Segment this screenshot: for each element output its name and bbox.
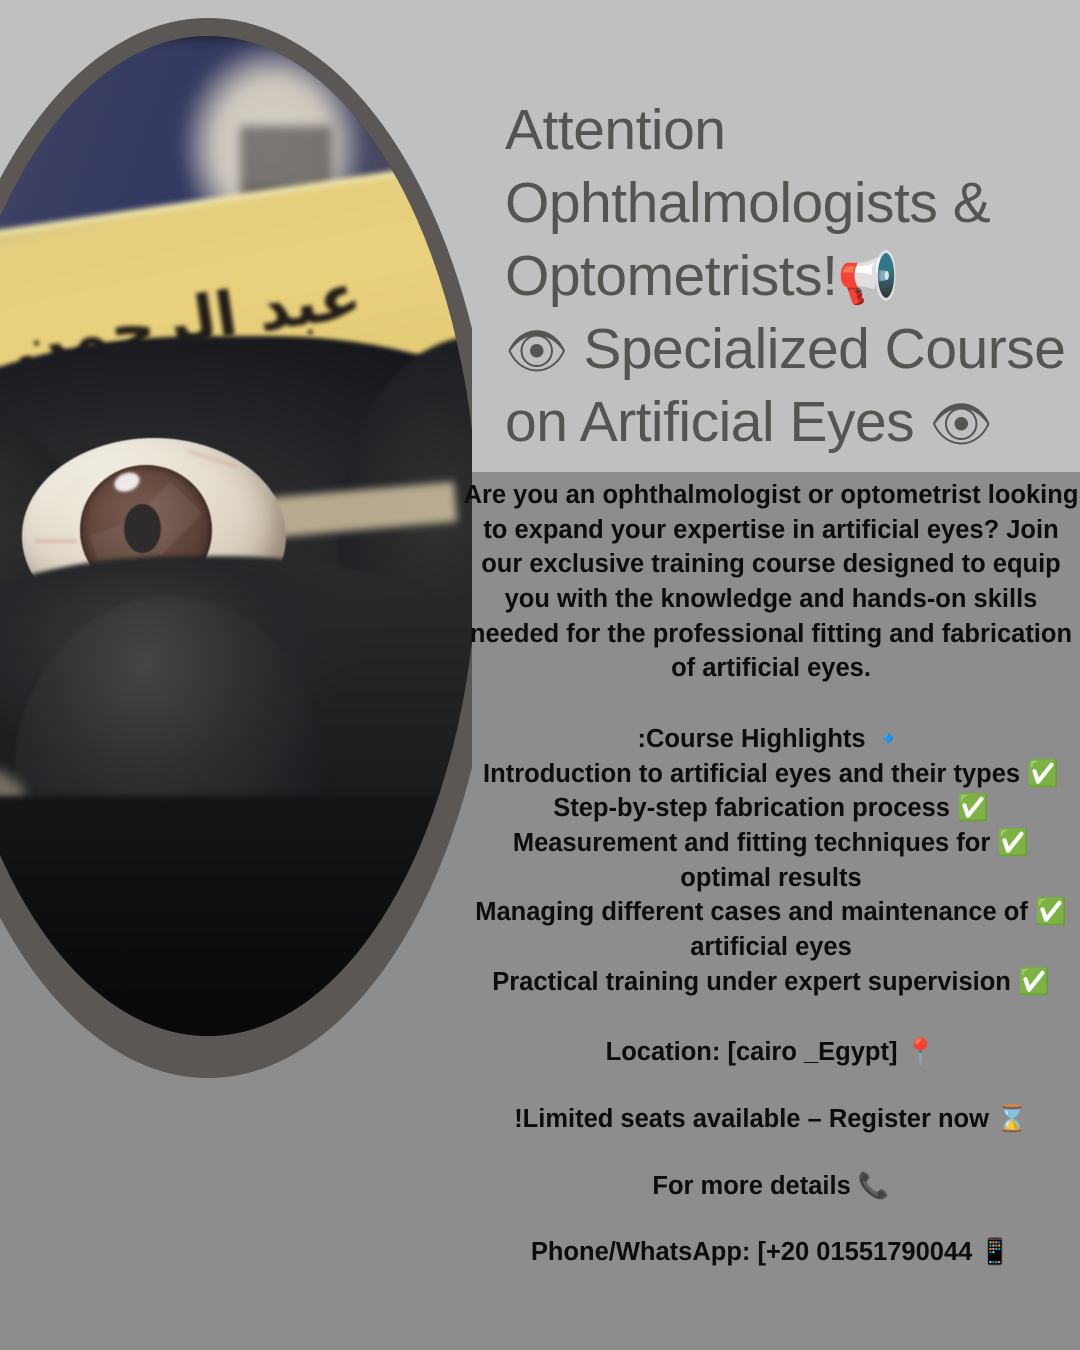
highlight-item-2-text: Step-by-step fabrication process xyxy=(553,794,950,822)
highlight-item-1-text: Introduction to artificial eyes and thei… xyxy=(483,760,1020,788)
highlight-item-3: Measurement and fitting techniques for ✅ xyxy=(462,826,1080,861)
eye-specular-glint xyxy=(112,469,143,495)
intro-paragraph: Are you an ophthalmologist or optometris… xyxy=(462,478,1080,686)
poster-heading: Attention Ophthalmologists & Optometrist… xyxy=(505,94,1075,459)
highlight-item-3-text: Measurement and fitting techniques for xyxy=(513,829,990,857)
check-icon-2: ✅ xyxy=(957,793,989,823)
highlight-item-1: Introduction to artificial eyes and thei… xyxy=(462,757,1080,792)
photo-oval-mask: عبد الرحمن ال بات والعيون xyxy=(0,36,472,1036)
more-details-text: For more details xyxy=(652,1172,850,1200)
spacer-1 xyxy=(462,686,1080,722)
poster-root: عبد الرحمن ال بات والعيون xyxy=(0,0,1080,1350)
heading-line-4-text: Specialized Course xyxy=(583,317,1065,381)
telephone-receiver-icon: 📞 xyxy=(858,1171,890,1201)
eye-icon-right: 👁 xyxy=(930,395,993,453)
heading-line-3: Optometrists!📢 xyxy=(505,240,1075,313)
location-text: Location: [cairo _Egypt] xyxy=(606,1038,898,1066)
check-icon-3: ✅ xyxy=(997,828,1029,858)
course-photo: عبد الرحمن ال بات والعيون xyxy=(0,0,472,1090)
spacer-3 xyxy=(462,1070,1080,1102)
highlights-title: :Course Highlights 🔹 xyxy=(462,722,1080,757)
spacer-4 xyxy=(462,1137,1080,1169)
eye-pupil xyxy=(124,504,161,553)
eye-icon-left: 👁 xyxy=(505,322,568,380)
heading-line-5: on Artificial Eyes 👁 xyxy=(505,386,1075,459)
more-details-line: For more details 📞 xyxy=(462,1169,1080,1204)
highlight-item-2: Step-by-step fabrication process ✅ xyxy=(462,791,1080,826)
check-icon-5: ✅ xyxy=(1018,967,1050,997)
sclera-vein-left xyxy=(35,540,77,542)
dark-foreground xyxy=(0,796,472,1036)
heading-line-4: 👁 Specialized Course xyxy=(505,313,1075,386)
highlight-item-4: Managing different cases and maintenance… xyxy=(462,895,1080,930)
heading-line-1: Attention xyxy=(505,94,1075,167)
mobile-phone-icon: 📱 xyxy=(979,1237,1011,1267)
phone-line[interactable]: Phone/WhatsApp: [+20 01551790044 📱 xyxy=(462,1235,1080,1270)
seats-line: !Limited seats available – Register now … xyxy=(462,1102,1080,1137)
phone-text[interactable]: Phone/WhatsApp: [+20 01551790044 xyxy=(531,1238,972,1266)
seats-text: !Limited seats available – Register now xyxy=(514,1105,989,1133)
location-line: Location: [cairo _Egypt] 📍 xyxy=(462,1035,1080,1070)
blue-diamond-icon: 🔹 xyxy=(873,724,905,754)
check-icon-4: ✅ xyxy=(1035,897,1067,927)
heading-line-5-text: on Artificial Eyes xyxy=(505,390,914,454)
heading-line-3-text: Optometrists! xyxy=(505,244,837,308)
highlight-item-5: Practical training under expert supervis… xyxy=(462,965,1080,1000)
poster-body: Are you an ophthalmologist or optometris… xyxy=(462,478,1080,1270)
highlight-item-4-text: Managing different cases and maintenance… xyxy=(475,898,1028,926)
highlights-title-text: :Course Highlights xyxy=(638,725,866,753)
spacer-2 xyxy=(462,999,1080,1035)
hourglass-icon: ⌛ xyxy=(996,1104,1028,1134)
megaphone-icon: 📢 xyxy=(837,249,899,307)
heading-line-2: Ophthalmologists & xyxy=(505,167,1075,240)
map-pin-icon: 📍 xyxy=(905,1037,937,1067)
highlight-item-4-cont: artificial eyes xyxy=(462,930,1080,965)
highlight-item-3-cont: optimal results xyxy=(462,861,1080,896)
check-icon-1: ✅ xyxy=(1027,759,1059,789)
spacer-5 xyxy=(462,1203,1080,1235)
highlight-item-5-text: Practical training under expert supervis… xyxy=(492,968,1011,996)
